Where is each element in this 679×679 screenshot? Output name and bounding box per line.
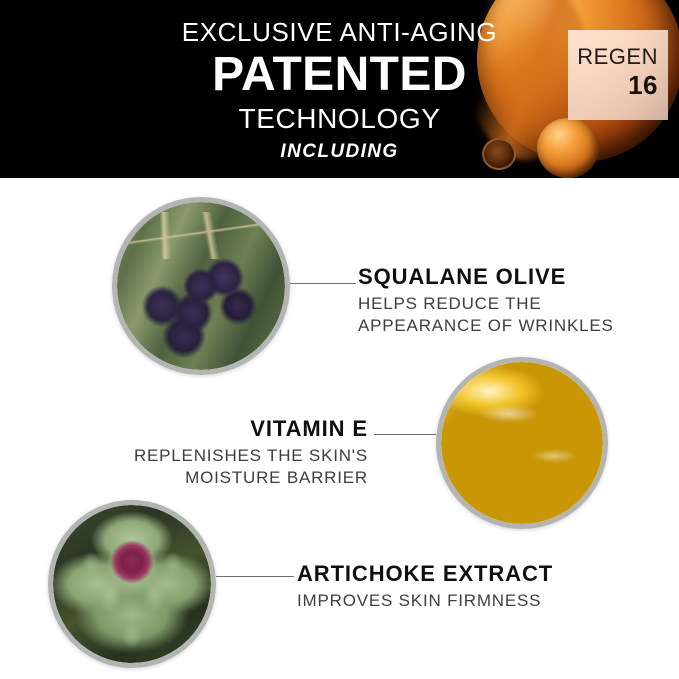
ingredients-section: SQUALANE OLIVE HELPS REDUCE THE APPEARAN… [0,178,679,679]
ingredient-title-artichoke-extract: ARTICHOKE EXTRACT [297,561,553,587]
connector-line-artichoke-extract [216,576,294,577]
ingredient-title-vitamin-e: VITAMIN E [60,416,368,442]
including-label: INCLUDING [0,141,679,163]
ingredient-image-artichoke-extract [48,500,216,668]
ingredient-image-squalane-olive [112,197,290,375]
olive-branch-photo [117,202,285,370]
ingredient-desc-line2-vitamin-e: MOISTURE BARRIER [60,467,368,489]
ingredient-text-squalane-olive: SQUALANE OLIVE HELPS REDUCE THE APPEARAN… [358,264,614,337]
vitamin-e-capsules-photo [441,362,603,524]
ingredient-desc-line1-artichoke-extract: IMPROVES SKIN FIRMNESS [297,590,553,612]
ingredient-text-artichoke-extract: ARTICHOKE EXTRACT IMPROVES SKIN FIRMNESS [297,561,553,612]
header-banner: REGEN 16 EXCLUSIVE ANTI-AGING PATENTED T… [0,0,679,178]
ingredient-desc-line1-vitamin-e: REPLENISHES THE SKIN'S [60,445,368,467]
regen-badge-word: REGEN [568,44,658,70]
ingredient-text-vitamin-e: VITAMIN E REPLENISHES THE SKIN'S MOISTUR… [60,416,368,489]
connector-line-squalane-olive [290,283,356,284]
regen-badge-number: 16 [568,70,658,100]
ingredient-image-vitamin-e [436,357,608,529]
ingredient-title-squalane-olive: SQUALANE OLIVE [358,264,614,290]
artichoke-photo [53,505,211,663]
ingredient-desc-line2-squalane-olive: APPEARANCE OF WRINKLES [358,315,614,337]
connector-line-vitamin-e [374,434,436,435]
ingredient-desc-line1-squalane-olive: HELPS REDUCE THE [358,293,614,315]
regen-badge: REGEN 16 [568,30,668,120]
